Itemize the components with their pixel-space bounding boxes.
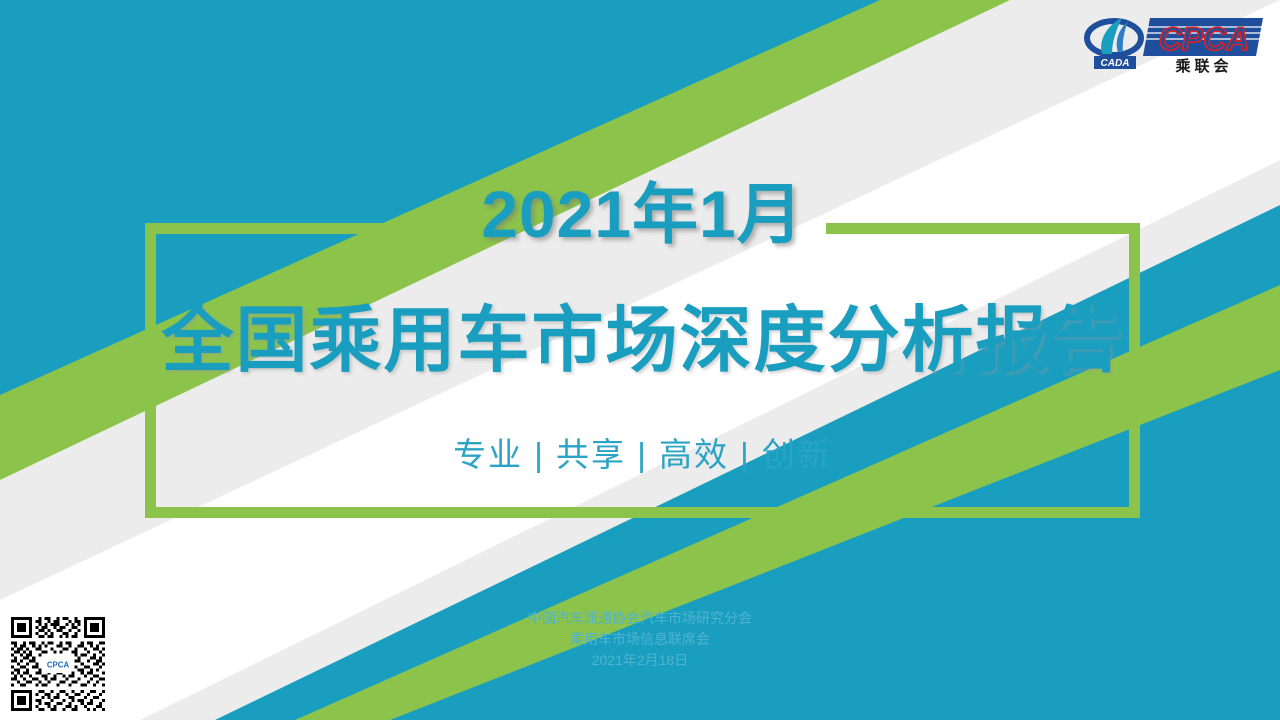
cpca-banner: CPCA (1143, 18, 1263, 57)
footer-text-block: 中国汽车流通协会汽车市场研究分会 乘用车市场信息联席会 2021年2月18日 (340, 608, 940, 671)
cpca-logo: CADA CPCA 乘联会 (1078, 12, 1263, 74)
qr-center-logo-text: CPCA (47, 660, 70, 669)
title-block: 2021年1月 全国乘用车市场深度分析报告 专业 | 共享 | 高效 | 创新 (145, 223, 1140, 518)
slide-main-title: 全国乘用车市场深度分析报告 (145, 305, 1140, 377)
cpca-wordmark: CPCA (1159, 21, 1250, 57)
qr-center-logo: CPCA (46, 655, 70, 673)
cpca-chinese-name: 乘联会 (1174, 57, 1232, 74)
footer-line-committee: 乘用车市场信息联席会 (340, 629, 940, 650)
slide-tagline: 专业 | 共享 | 高效 | 创新 (145, 428, 1140, 476)
slide-date-title: 2021年1月 (145, 181, 1140, 247)
footer-line-date: 2021年2月18日 (340, 650, 940, 671)
cada-wordmark: CADA (1101, 58, 1130, 69)
cada-emblem-icon: CADA (1087, 18, 1141, 69)
qr-code[interactable]: CPCA (8, 614, 108, 714)
presentation-slide: 2021年1月 全国乘用车市场深度分析报告 专业 | 共享 | 高效 | 创新 … (0, 0, 1280, 720)
footer-line-organization: 中国汽车流通协会汽车市场研究分会 (340, 608, 940, 629)
